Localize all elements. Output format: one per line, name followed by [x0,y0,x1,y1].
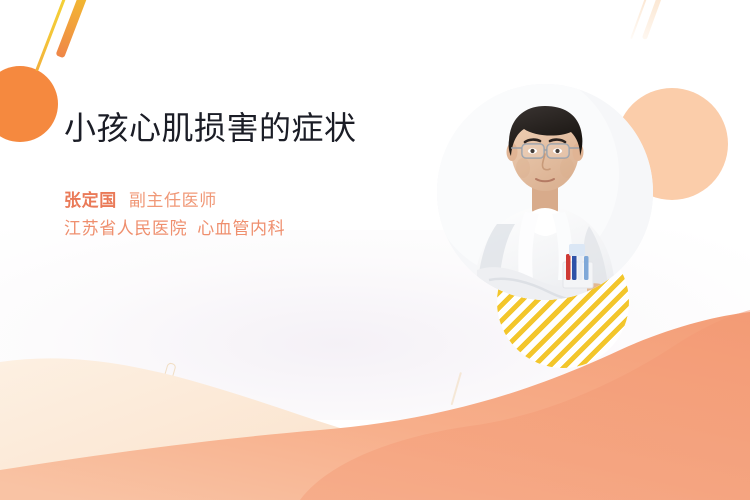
yellow-streak-icon [35,0,68,71]
peach-streak-icon [642,0,668,40]
orange-streak-icon [55,0,90,58]
page-title: 小孩心肌损害的症状 [64,108,414,149]
cover-text-block: 小孩心肌损害的症状 张定国副主任医师 江苏省人民医院心血管内科 [64,108,414,243]
doctor-name: 张定国 [64,191,117,210]
hospital-name: 江苏省人民医院 [64,219,187,238]
orange-circle-decoration [0,66,58,142]
doctor-affiliation: 江苏省人民医院心血管内科 [64,215,414,243]
doctor-article-cover-card: 小孩心肌损害的症状 张定国副主任医师 江苏省人民医院心血管内科 [0,0,750,500]
doctor-portrait [437,84,653,344]
doctor-title: 副主任医师 [129,191,217,210]
department-name: 心血管内科 [197,219,285,238]
doctor-byline: 张定国副主任医师 [64,187,414,215]
peach-thin-streak-icon [630,0,652,39]
